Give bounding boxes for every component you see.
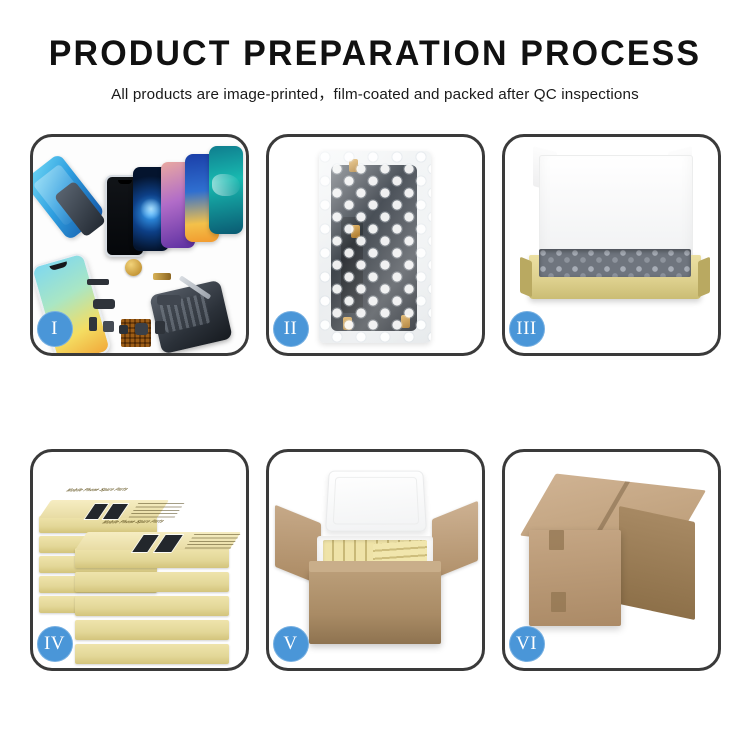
component-4-icon: [135, 323, 148, 335]
step-badge-2: II: [273, 311, 309, 347]
box-label-text-front: Mobile Phone Spare Parts: [100, 518, 167, 524]
battery-connector-icon: [87, 279, 109, 285]
grey-foam-padding-icon: [539, 249, 691, 277]
tape-strip-top-icon: [549, 530, 564, 550]
header: PRODUCT PREPARATION PROCESS All products…: [0, 0, 750, 104]
component-5-icon: [155, 321, 165, 334]
process-step-grid: I II: [21, 130, 729, 675]
process-step-5: V: [257, 445, 493, 675]
stacked-box-front-2: [75, 572, 229, 592]
bubble-wrap-package: [319, 151, 431, 343]
process-step-3: III: [493, 130, 729, 360]
stacked-box-front-4: [75, 620, 229, 640]
step-photo-inner-box: III: [502, 134, 721, 356]
tape-strip-bottom-icon: [551, 592, 566, 612]
component-2-icon: [103, 321, 114, 332]
carton-body-icon: [309, 570, 441, 644]
step-photo-parts: I: [30, 134, 249, 356]
process-step-1: I: [21, 130, 257, 360]
box-stack: Mobile Phone Spare Parts Mobi: [39, 474, 243, 656]
process-step-4: Mobile Phone Spare Parts Mobi: [21, 445, 257, 675]
plastic-sheen: [319, 151, 431, 343]
component-1-icon: [89, 317, 97, 331]
camera-lens-icon: [125, 259, 142, 276]
carton-front-face-icon: [529, 530, 621, 626]
box-spec-lines: [127, 503, 184, 519]
step-photo-bubble-wrap: II: [266, 134, 485, 356]
step-photo-sealed-carton: VI: [502, 449, 721, 671]
step-badge-6: VI: [509, 626, 545, 662]
phone-teal-icon: [209, 146, 243, 234]
step-photo-carton-packed: V: [266, 449, 485, 671]
product-preparation-infographic: PRODUCT PREPARATION PROCESS All products…: [0, 0, 750, 750]
component-3-icon: [119, 325, 128, 334]
box-spec-lines-front: [183, 534, 240, 550]
process-step-6: VI: [493, 445, 729, 675]
page-title: PRODUCT PREPARATION PROCESS: [11, 36, 739, 73]
box-label-text: Mobile Phone Spare Parts: [64, 486, 131, 492]
process-step-2: II: [257, 130, 493, 360]
step-badge-5: V: [273, 626, 309, 662]
step-badge-4: IV: [37, 626, 73, 662]
step-photo-box-stack: Mobile Phone Spare Parts Mobi: [30, 449, 249, 671]
stacked-box-front-5: [75, 644, 229, 664]
spare-parts-cluster: [81, 265, 201, 353]
step-badge-1: I: [37, 311, 73, 347]
step-badge-3: III: [509, 311, 545, 347]
stacked-box-front-1: Mobile Phone Spare Parts: [75, 548, 229, 568]
carton-side-face-icon: [619, 506, 695, 620]
flex-cable-right-icon: [157, 295, 181, 305]
flex-cable-left-icon: [93, 299, 115, 309]
foam-lid-icon: [325, 470, 427, 531]
gold-flex-icon: [153, 273, 171, 280]
page-subtitle: All products are image-printed，film-coat…: [0, 82, 750, 104]
stacked-box-front-3: [75, 596, 229, 616]
